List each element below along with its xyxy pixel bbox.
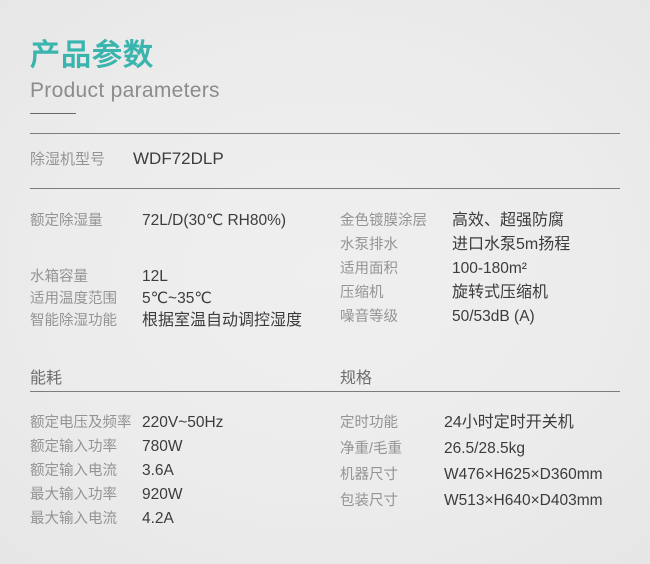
table-row: 噪音等级 50/53dB (A) (340, 306, 570, 330)
spec-label: 额定输入功率 (30, 436, 142, 458)
spec-label: 金色镀膜涂层 (340, 210, 452, 232)
spec-value: W513×H640×D403mm (444, 490, 603, 512)
spec-label: 机器尺寸 (340, 464, 444, 486)
spec-value: 进口水泵5m扬程 (452, 234, 570, 256)
spec-value: 24小时定时开关机 (444, 412, 603, 434)
table-row: 额定输入电流 3.6A (30, 460, 223, 484)
model-row: 除湿机型号 WDF72DLP (30, 148, 224, 171)
spec-value: 旋转式压缩机 (452, 282, 570, 304)
spec-value: 72L/D(30℃ RH80%) (142, 210, 302, 232)
table-row: 额定电压及频率 220V~50Hz (30, 412, 223, 436)
spec-label: 压缩机 (340, 282, 452, 304)
table-row: 净重/毛重 26.5/28.5kg (340, 438, 603, 464)
spec-value: 50/53dB (A) (452, 306, 570, 328)
title-underline (30, 113, 76, 114)
spec-value: 5℃~35℃ (142, 288, 302, 310)
spec-label: 最大输入电流 (30, 508, 142, 530)
specification-spec-group: 定时功能 24小时定时开关机 净重/毛重 26.5/28.5kg 机器尺寸 W4… (340, 412, 603, 516)
spec-value: 920W (142, 484, 223, 506)
spec-label: 包装尺寸 (340, 490, 444, 512)
spec-label: 净重/毛重 (340, 438, 444, 460)
table-row: 机器尺寸 W476×H625×D360mm (340, 464, 603, 490)
spec-value: 26.5/28.5kg (444, 438, 603, 460)
spec-value: W476×H625×D360mm (444, 464, 603, 486)
table-row: 定时功能 24小时定时开关机 (340, 412, 603, 438)
spec-value: 高效、超强防腐 (452, 210, 570, 232)
spec-label: 噪音等级 (340, 306, 452, 328)
spec-label: 水泵排水 (340, 234, 452, 256)
table-row: 智能除湿功能 根据室温自动调控湿度 (30, 310, 302, 332)
spec-value: 3.6A (142, 460, 223, 482)
table-row: 水箱容量 12L (30, 266, 302, 288)
table-row: 水泵排水 进口水泵5m扬程 (340, 234, 570, 258)
product-parameters-sheet: 产品参数 Product parameters 除湿机型号 WDF72DLP 额… (0, 0, 650, 564)
spec-label: 适用温度范围 (30, 288, 142, 310)
divider-above-model (30, 133, 620, 134)
top-left-spec-group: 额定除湿量 72L/D(30℃ RH80%) 水箱容量 12L 适用温度范围 5… (30, 210, 302, 332)
spec-label: 定时功能 (340, 412, 444, 434)
table-row: 额定除湿量 72L/D(30℃ RH80%) (30, 210, 302, 232)
table-row: 包装尺寸 W513×H640×D403mm (340, 490, 603, 516)
table-row: 金色镀膜涂层 高效、超强防腐 (340, 210, 570, 234)
divider-below-section-titles (30, 391, 620, 392)
spec-label: 适用面积 (340, 258, 452, 280)
spec-label: 额定电压及频率 (30, 412, 142, 434)
spec-value: 100-180m² (452, 258, 570, 280)
spec-label: 水箱容量 (30, 266, 142, 288)
table-row: 最大输入功率 920W (30, 484, 223, 508)
model-value: WDF72DLP (133, 148, 224, 170)
table-row: 适用温度范围 5℃~35℃ (30, 288, 302, 310)
table-row: 压缩机 旋转式压缩机 (340, 282, 570, 306)
spec-value: 780W (142, 436, 223, 458)
spec-value: 根据室温自动调控湿度 (142, 310, 302, 332)
section-title-energy: 能耗 (30, 368, 62, 390)
table-row: 适用面积 100-180m² (340, 258, 570, 282)
page-header: 产品参数 Product parameters (30, 38, 220, 114)
spec-label: 最大输入功率 (30, 484, 142, 506)
page-title-cn: 产品参数 (30, 38, 220, 74)
spec-label: 额定除湿量 (30, 210, 142, 232)
divider-below-model (30, 188, 620, 189)
table-row: 额定输入功率 780W (30, 436, 223, 460)
section-title-specification: 规格 (340, 368, 372, 390)
model-label: 除湿机型号 (30, 149, 105, 171)
spec-value: 4.2A (142, 508, 223, 530)
spec-value: 12L (142, 266, 302, 288)
top-right-spec-group: 金色镀膜涂层 高效、超强防腐 水泵排水 进口水泵5m扬程 适用面积 100-18… (340, 210, 570, 330)
energy-spec-group: 额定电压及频率 220V~50Hz 额定输入功率 780W 额定输入电流 3.6… (30, 412, 223, 532)
spec-value: 220V~50Hz (142, 412, 223, 434)
table-row: 最大输入电流 4.2A (30, 508, 223, 532)
spec-label: 智能除湿功能 (30, 310, 142, 332)
page-title-en: Product parameters (30, 78, 220, 104)
spec-label: 额定输入电流 (30, 460, 142, 482)
